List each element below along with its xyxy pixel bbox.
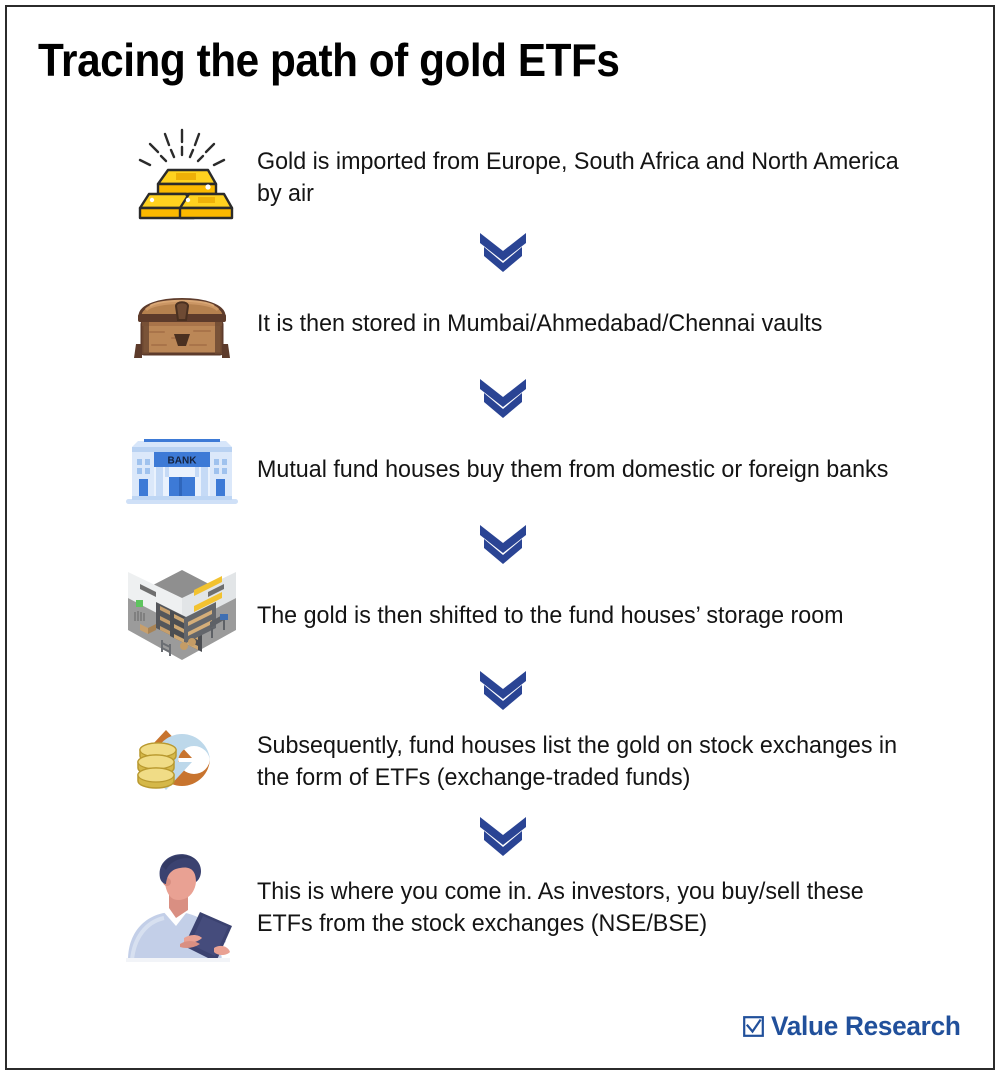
- checkbox-check-icon: [743, 1016, 764, 1037]
- flow-step: It is then stored in Mumbai/Ahmedabad/Ch…: [0, 274, 1000, 374]
- step-description: Gold is imported from Europe, South Afri…: [257, 146, 922, 211]
- step-description: The gold is then shifted to the fund hou…: [257, 600, 844, 632]
- step-description: Mutual fund houses buy them from domesti…: [257, 454, 888, 486]
- bank-sign-label: BANK: [168, 456, 198, 467]
- flow-step: Gold is imported from Europe, South Afri…: [0, 128, 1000, 228]
- coins-cycle-icon: [102, 712, 262, 812]
- step-description: It is then stored in Mumbai/Ahmedabad/Ch…: [257, 308, 822, 340]
- flow-step: BANK: [0, 420, 1000, 520]
- bank-building-icon: BANK: [102, 420, 262, 520]
- flow-arrow: [0, 520, 1000, 566]
- double-chevron-down-icon: [476, 667, 530, 711]
- step-description: Subsequently, fund houses list the gold …: [257, 730, 922, 795]
- investor-tablet-icon: [102, 858, 262, 958]
- logo-text: Value Research: [771, 1011, 961, 1042]
- page-title: Tracing the path of gold ETFs: [38, 33, 619, 87]
- infographic-page: Tracing the path of gold ETFs: [0, 0, 1000, 1075]
- gold-bars-icon: [102, 128, 262, 228]
- double-chevron-down-icon: [476, 813, 530, 857]
- flow-diagram: Gold is imported from Europe, South Afri…: [0, 128, 1000, 958]
- double-chevron-down-icon: [476, 521, 530, 565]
- flow-step: This is where you come in. As investors,…: [0, 858, 1000, 958]
- value-research-logo[interactable]: Value Research: [743, 1011, 966, 1042]
- flow-arrow: [0, 666, 1000, 712]
- step-description: This is where you come in. As investors,…: [257, 876, 922, 941]
- treasure-chest-icon: [102, 274, 262, 374]
- flow-step: The gold is then shifted to the fund hou…: [0, 566, 1000, 666]
- double-chevron-down-icon: [476, 229, 530, 273]
- warehouse-icon: [102, 566, 262, 666]
- flow-arrow: [0, 228, 1000, 274]
- double-chevron-down-icon: [476, 375, 530, 419]
- flow-step: Subsequently, fund houses list the gold …: [0, 712, 1000, 812]
- flow-arrow: [0, 374, 1000, 420]
